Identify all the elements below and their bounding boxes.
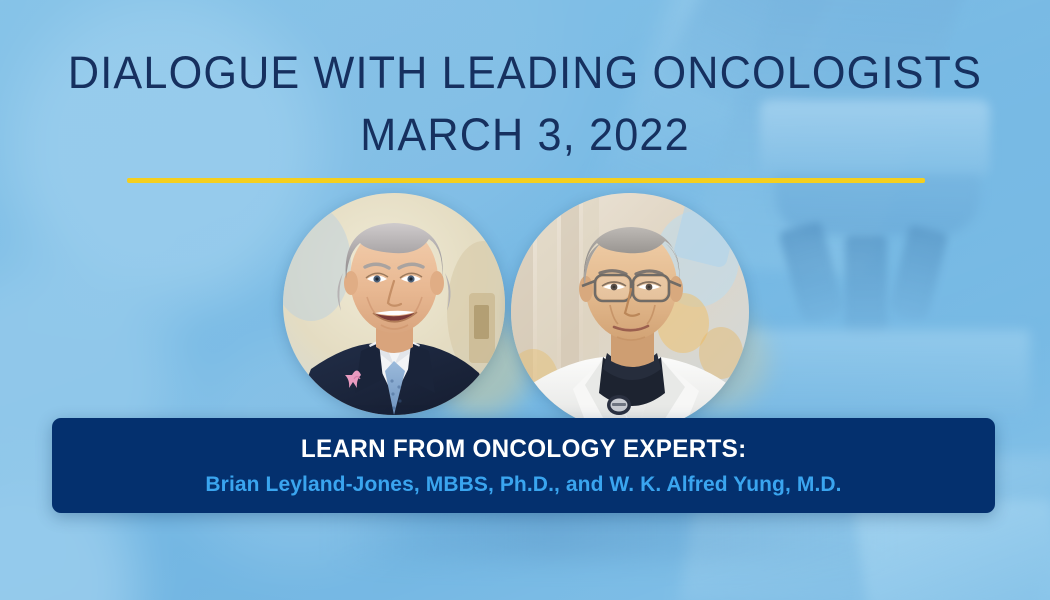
- speakers-banner: LEARN FROM ONCOLOGY EXPERTS: Brian Leyla…: [52, 418, 995, 513]
- portrait-brian-leyland-jones: [283, 193, 505, 415]
- badge-pin: [607, 395, 631, 415]
- poster: DIALOGUE WITH LEADING ONCOLOGISTS MARCH …: [0, 0, 1050, 600]
- portrait-w-k-alfred-yung: [511, 193, 749, 431]
- banner-headline: LEARN FROM ONCOLOGY EXPERTS:: [301, 435, 747, 464]
- banner-speaker-names: Brian Leyland-Jones, MBBS, Ph.D., and W.…: [205, 473, 841, 497]
